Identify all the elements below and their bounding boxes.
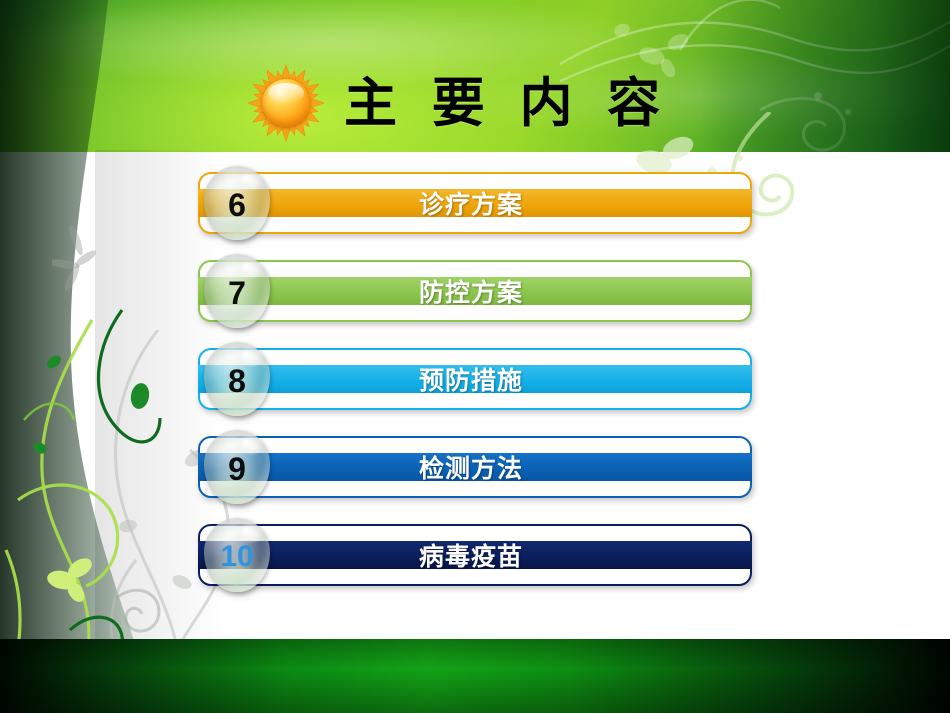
list-item[interactable]: 检测方法 9	[198, 436, 752, 498]
list-item-number: 10	[204, 518, 270, 592]
list-item-number-bubble: 8	[204, 342, 270, 416]
list-item-label: 病毒疫苗	[198, 524, 752, 586]
footer-shading-overlay	[0, 639, 950, 713]
header-right-shading	[700, 0, 950, 152]
slide-title-row: 主 要 内 容	[246, 58, 670, 148]
presentation-slide: 主 要 内 容 诊疗方案 6 防控方案 7	[0, 0, 950, 713]
list-item-label: 防控方案	[198, 260, 752, 322]
list-item[interactable]: 预防措施 8	[198, 348, 752, 410]
list-item-label: 预防措施	[198, 348, 752, 410]
list-item-number: 6	[204, 166, 270, 240]
list-item[interactable]: 病毒疫苗 10	[198, 524, 752, 586]
sun-icon	[246, 63, 326, 143]
contents-list: 诊疗方案 6 防控方案 7 预防措施 8	[198, 172, 752, 612]
list-item-label: 检测方法	[198, 436, 752, 498]
sun-highlight	[268, 83, 304, 103]
list-item-label: 诊疗方案	[198, 172, 752, 234]
list-item-number-bubble: 10	[204, 518, 270, 592]
list-item[interactable]: 防控方案 7	[198, 260, 752, 322]
list-item-number-bubble: 9	[204, 430, 270, 504]
list-item[interactable]: 诊疗方案 6	[198, 172, 752, 234]
list-item-number-bubble: 7	[204, 254, 270, 328]
list-item-number: 8	[204, 342, 270, 416]
list-item-number: 9	[204, 430, 270, 504]
page-title: 主 要 内 容	[344, 77, 670, 130]
list-item-number-bubble: 6	[204, 166, 270, 240]
list-item-number: 7	[204, 254, 270, 328]
